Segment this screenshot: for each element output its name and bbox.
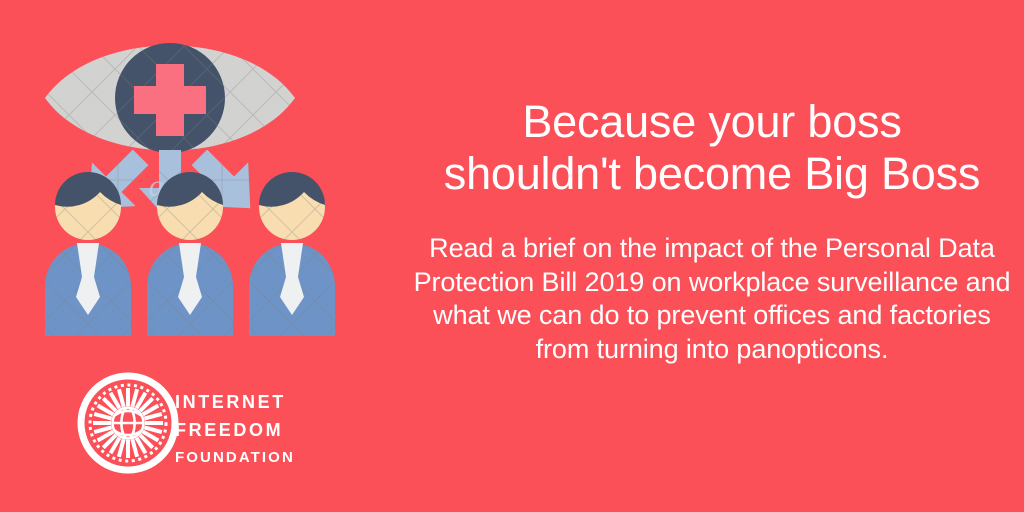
text-panel: Because your boss shouldn't become Big B…	[400, 0, 1024, 512]
body-paragraph: Read a brief on the impact of the Person…	[412, 232, 1012, 366]
logo-line-freedom: FREEDOM	[175, 420, 283, 440]
iff-logo[interactable]: INTERNET FREEDOM FOUNDATION	[81, 376, 295, 470]
logo-line-internet: INTERNET	[175, 392, 286, 412]
worker-figure	[249, 172, 335, 336]
iff-chakra-globe-icon	[81, 376, 175, 470]
illustration-panel: anr	[0, 0, 400, 512]
logo-line-foundation: FOUNDATION	[175, 449, 295, 466]
illustration-graphic: anr	[0, 0, 400, 512]
worker-figure	[147, 172, 233, 336]
page-title: Because your boss shouldn't become Big B…	[400, 96, 1024, 200]
poster-canvas: anr	[0, 0, 1024, 512]
worker-figure	[45, 172, 131, 336]
